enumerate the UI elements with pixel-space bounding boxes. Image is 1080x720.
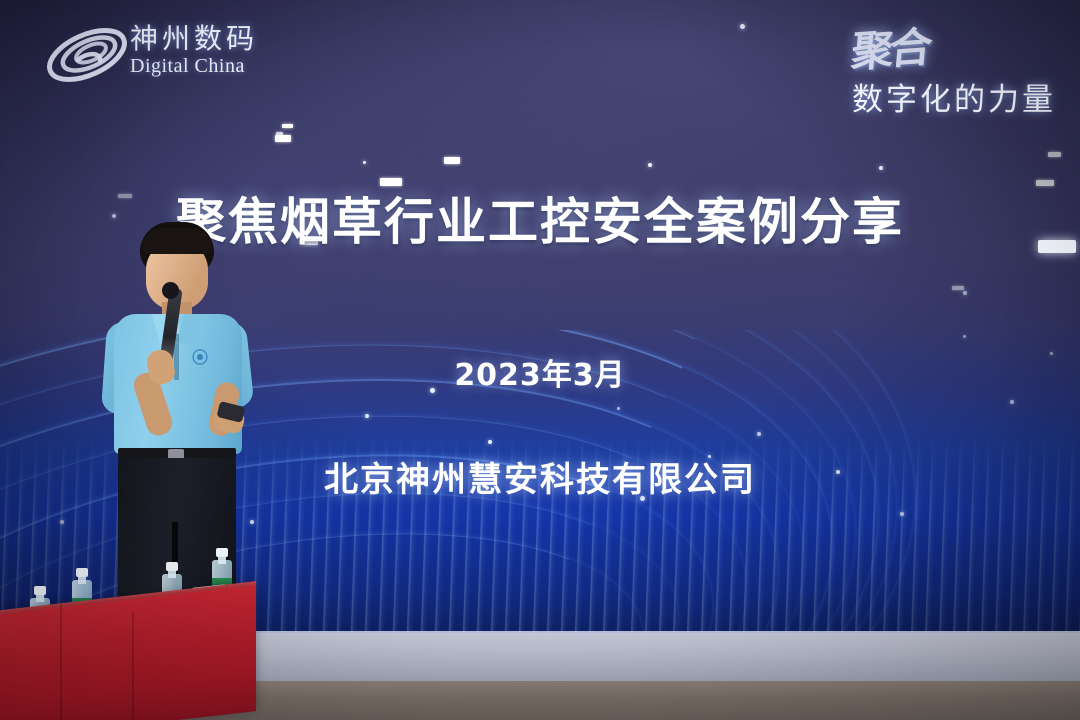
stage-photo: 神州数码 Digital China 聚合 数字化的力量 聚焦烟草行业工控安全案… bbox=[0, 0, 1080, 720]
logo-name-en: Digital China bbox=[130, 55, 258, 78]
slogan-subtitle: 数字化的力量 bbox=[852, 74, 1056, 119]
event-slogan: 聚合 数字化的力量 bbox=[796, 16, 1056, 112]
slogan-brush-text: 聚合 bbox=[849, 13, 931, 79]
led-accent-bar bbox=[1038, 240, 1076, 253]
speaker: ⦿ bbox=[96, 222, 286, 642]
shirt-chest-logo-icon: ⦿ bbox=[192, 350, 214, 368]
digital-china-logo: 神州数码 Digital China bbox=[44, 20, 274, 92]
swirl-logo-icon bbox=[44, 26, 130, 84]
logo-name-cn: 神州数码 bbox=[130, 24, 258, 53]
